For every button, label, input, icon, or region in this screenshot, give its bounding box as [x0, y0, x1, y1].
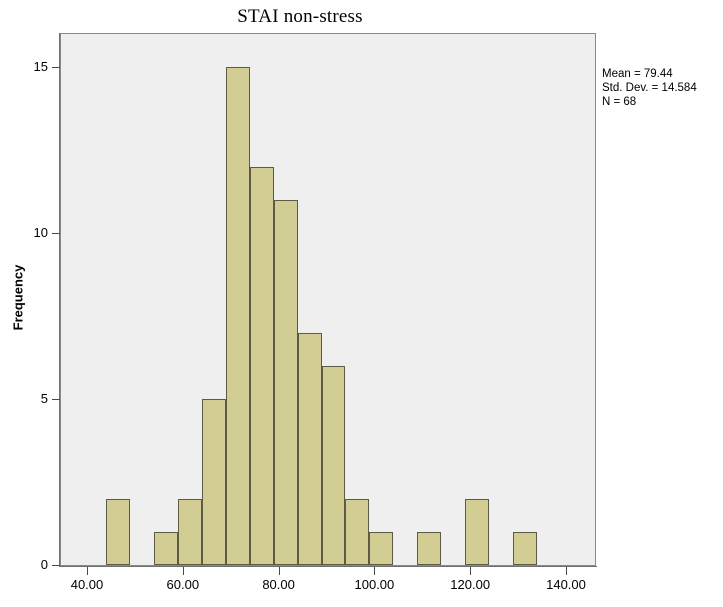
histogram-bar — [369, 532, 393, 565]
x-axis-tick-label: 140.00 — [531, 577, 601, 592]
y-axis-line — [59, 33, 60, 566]
y-axis-tick-label: 15 — [8, 59, 48, 74]
histogram-bar — [274, 200, 298, 565]
histogram-bar — [154, 532, 178, 565]
histogram-bar — [298, 333, 322, 565]
histogram-bar — [250, 167, 274, 565]
x-axis-tick — [470, 567, 471, 575]
histogram-bar — [417, 532, 441, 565]
stat-n: N = 68 — [602, 95, 697, 109]
histogram-bar — [513, 532, 537, 565]
histogram-bar — [345, 499, 369, 565]
plot-area — [60, 33, 596, 566]
x-axis-line — [59, 566, 597, 567]
chart-title: STAI non-stress — [0, 6, 600, 28]
y-axis-tick-label: 10 — [8, 225, 48, 240]
x-axis-tick-label: 60.00 — [148, 577, 218, 592]
y-axis-tick — [52, 399, 60, 400]
x-axis-tick-label: 40.00 — [52, 577, 122, 592]
x-axis-tick — [183, 567, 184, 575]
bars-layer — [61, 34, 595, 565]
stat-mean: Mean = 79.44 — [602, 67, 697, 81]
y-axis-tick-label: 5 — [8, 391, 48, 406]
x-axis-tick — [374, 567, 375, 575]
histogram-bar — [178, 499, 202, 565]
x-axis-tick — [279, 567, 280, 575]
x-axis-tick-label: 120.00 — [435, 577, 505, 592]
x-axis-tick — [87, 567, 88, 575]
x-axis-tick — [566, 567, 567, 575]
histogram-chart: STAI non-stress Frequency 051015 40.0060… — [0, 0, 723, 607]
histogram-bar — [465, 499, 489, 565]
stat-std-dev: Std. Dev. = 14.584 — [602, 81, 697, 95]
x-axis-tick-label: 80.00 — [244, 577, 314, 592]
histogram-bar — [322, 366, 346, 565]
y-axis-tick-label: 0 — [8, 557, 48, 572]
histogram-bar — [106, 499, 130, 565]
x-axis-tick-label: 100.00 — [339, 577, 409, 592]
y-axis-tick — [52, 233, 60, 234]
statistics-annotation: Mean = 79.44 Std. Dev. = 14.584 N = 68 — [602, 67, 697, 109]
y-axis-tick — [52, 67, 60, 68]
histogram-bar — [202, 399, 226, 565]
histogram-bar — [226, 67, 250, 565]
